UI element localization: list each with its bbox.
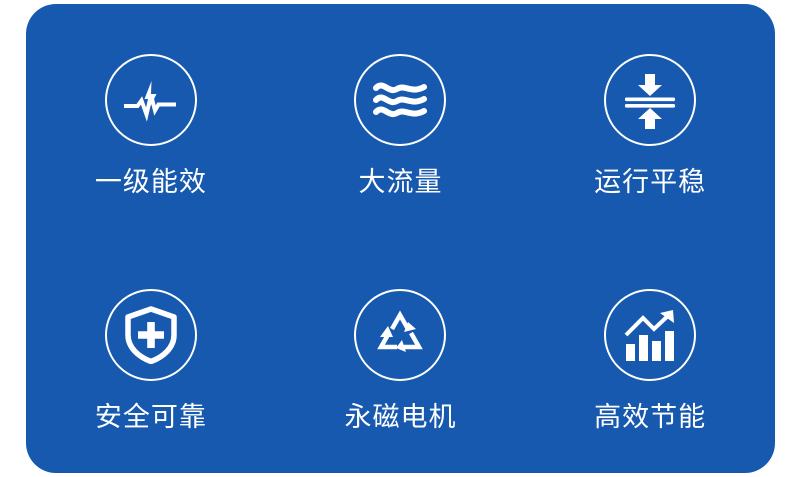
recycle-icon	[354, 289, 446, 381]
feature-item-smooth-operation[interactable]: 运行平稳	[525, 44, 775, 198]
feature-panel: 一级能效 大流量	[26, 4, 775, 473]
shield-plus-icon	[105, 289, 197, 381]
feature-item-grade-one-energy-efficiency[interactable]: 一级能效	[26, 44, 276, 198]
feature-item-safe-reliable[interactable]: 安全可靠	[26, 279, 276, 433]
feature-item-permanent-magnet-motor[interactable]: 永磁电机	[276, 279, 526, 433]
feature-grid: 一级能效 大流量	[26, 4, 775, 473]
feature-label: 运行平稳	[594, 168, 706, 198]
feature-label: 高效节能	[594, 403, 706, 433]
water-waves-icon	[354, 54, 446, 146]
feature-label: 大流量	[358, 168, 442, 198]
feature-item-high-efficiency-energy-saving[interactable]: 高效节能	[525, 279, 775, 433]
feature-label: 永磁电机	[344, 403, 456, 433]
feature-label: 安全可靠	[95, 403, 207, 433]
bar-chart-growth-icon	[604, 289, 696, 381]
pulse-lightning-icon	[105, 54, 197, 146]
feature-item-large-flow[interactable]: 大流量	[276, 44, 526, 198]
feature-label: 一级能效	[95, 168, 207, 198]
compress-arrows-icon	[604, 54, 696, 146]
